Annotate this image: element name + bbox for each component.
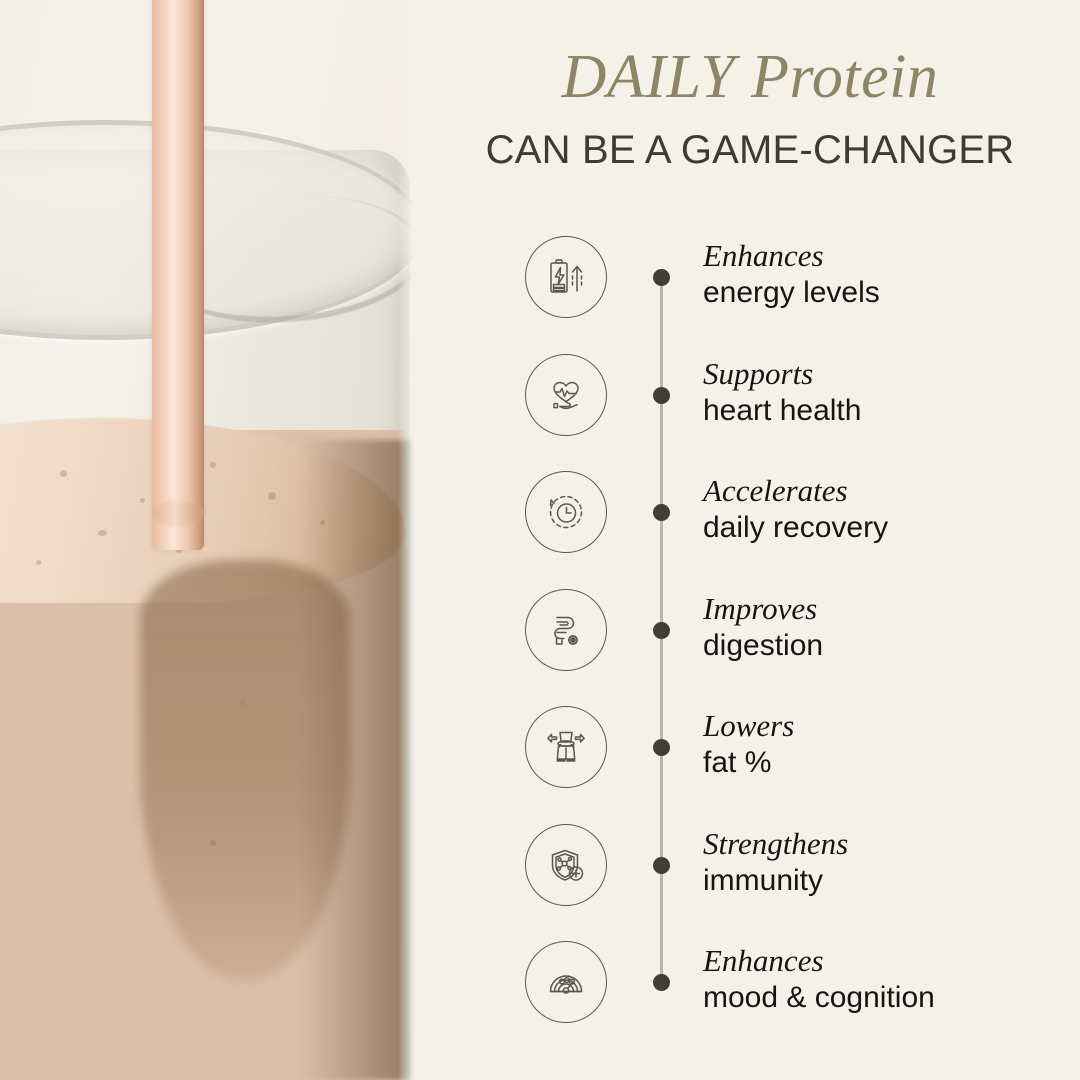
benefits-list: Enhances energy levels Sup bbox=[420, 0, 1080, 1080]
shield-immunity-icon bbox=[525, 824, 607, 906]
list-item[interactable]: Accelerates daily recovery bbox=[420, 471, 1080, 589]
list-item-text: Lowers fat % bbox=[703, 710, 1080, 779]
heart-pulse-hand-icon bbox=[525, 354, 607, 436]
timeline-dot bbox=[653, 387, 670, 404]
infographic-canvas: DAILY Protein CAN BE A GAME-CHANGER bbox=[0, 0, 1080, 1080]
list-item-detail: energy levels bbox=[703, 276, 1080, 310]
content-panel: DAILY Protein CAN BE A GAME-CHANGER bbox=[420, 0, 1080, 1080]
timeline-dot bbox=[653, 504, 670, 521]
clock-recovery-icon bbox=[525, 471, 607, 553]
drinking-straw bbox=[152, 0, 204, 550]
list-item-verb: Enhances bbox=[703, 240, 1080, 273]
intestine-digestion-icon bbox=[525, 589, 607, 671]
list-item[interactable]: Lowers fat % bbox=[420, 706, 1080, 824]
brain-gauge-mood-icon bbox=[525, 941, 607, 1023]
straw-tip bbox=[152, 500, 204, 526]
list-item[interactable]: Enhances energy levels bbox=[420, 236, 1080, 354]
list-item-text: Enhances mood & cognition bbox=[703, 945, 1080, 1014]
timeline-dot bbox=[653, 269, 670, 286]
list-item-detail: mood & cognition bbox=[703, 981, 1080, 1015]
list-item-text: Strengthens immunity bbox=[703, 828, 1080, 897]
timeline-dot bbox=[653, 974, 670, 991]
foam-bubble bbox=[60, 470, 67, 477]
photo-fade-edge bbox=[398, 0, 420, 1080]
list-item-verb: Strengthens bbox=[703, 828, 1080, 861]
list-item-verb: Accelerates bbox=[703, 475, 1080, 508]
foam-bubble bbox=[320, 520, 325, 525]
list-item-detail: digestion bbox=[703, 629, 1080, 663]
list-item-verb: Lowers bbox=[703, 710, 1080, 743]
list-item-verb: Improves bbox=[703, 593, 1080, 626]
foam-bubble bbox=[98, 530, 107, 536]
list-item-detail: heart health bbox=[703, 394, 1080, 428]
foam-bubble bbox=[268, 492, 276, 500]
list-item-detail: daily recovery bbox=[703, 511, 1080, 545]
list-item[interactable]: Strengthens immunity bbox=[420, 824, 1080, 942]
list-item-text: Enhances energy levels bbox=[703, 240, 1080, 309]
waist-fat-loss-icon bbox=[525, 706, 607, 788]
list-item[interactable]: Supports heart health bbox=[420, 354, 1080, 472]
foam-bubble bbox=[140, 498, 145, 503]
timeline-dot bbox=[653, 622, 670, 639]
list-item[interactable]: Improves digestion bbox=[420, 589, 1080, 707]
list-item-text: Supports heart health bbox=[703, 358, 1080, 427]
foam-bubble bbox=[240, 700, 245, 705]
battery-energy-arrow-icon bbox=[525, 236, 607, 318]
timeline-dot bbox=[653, 739, 670, 756]
list-item-verb: Enhances bbox=[703, 945, 1080, 978]
list-item[interactable]: Enhances mood & cognition bbox=[420, 941, 1080, 1059]
list-item-verb: Supports bbox=[703, 358, 1080, 391]
list-item-detail: fat % bbox=[703, 746, 1080, 780]
product-photo bbox=[0, 0, 420, 1080]
list-item-text: Improves digestion bbox=[703, 593, 1080, 662]
foam-bubble bbox=[36, 560, 41, 565]
list-item-text: Accelerates daily recovery bbox=[703, 475, 1080, 544]
foam-bubble bbox=[210, 840, 216, 846]
list-item-detail: immunity bbox=[703, 864, 1080, 898]
foam-bubble bbox=[210, 462, 216, 468]
timeline-dot bbox=[653, 857, 670, 874]
